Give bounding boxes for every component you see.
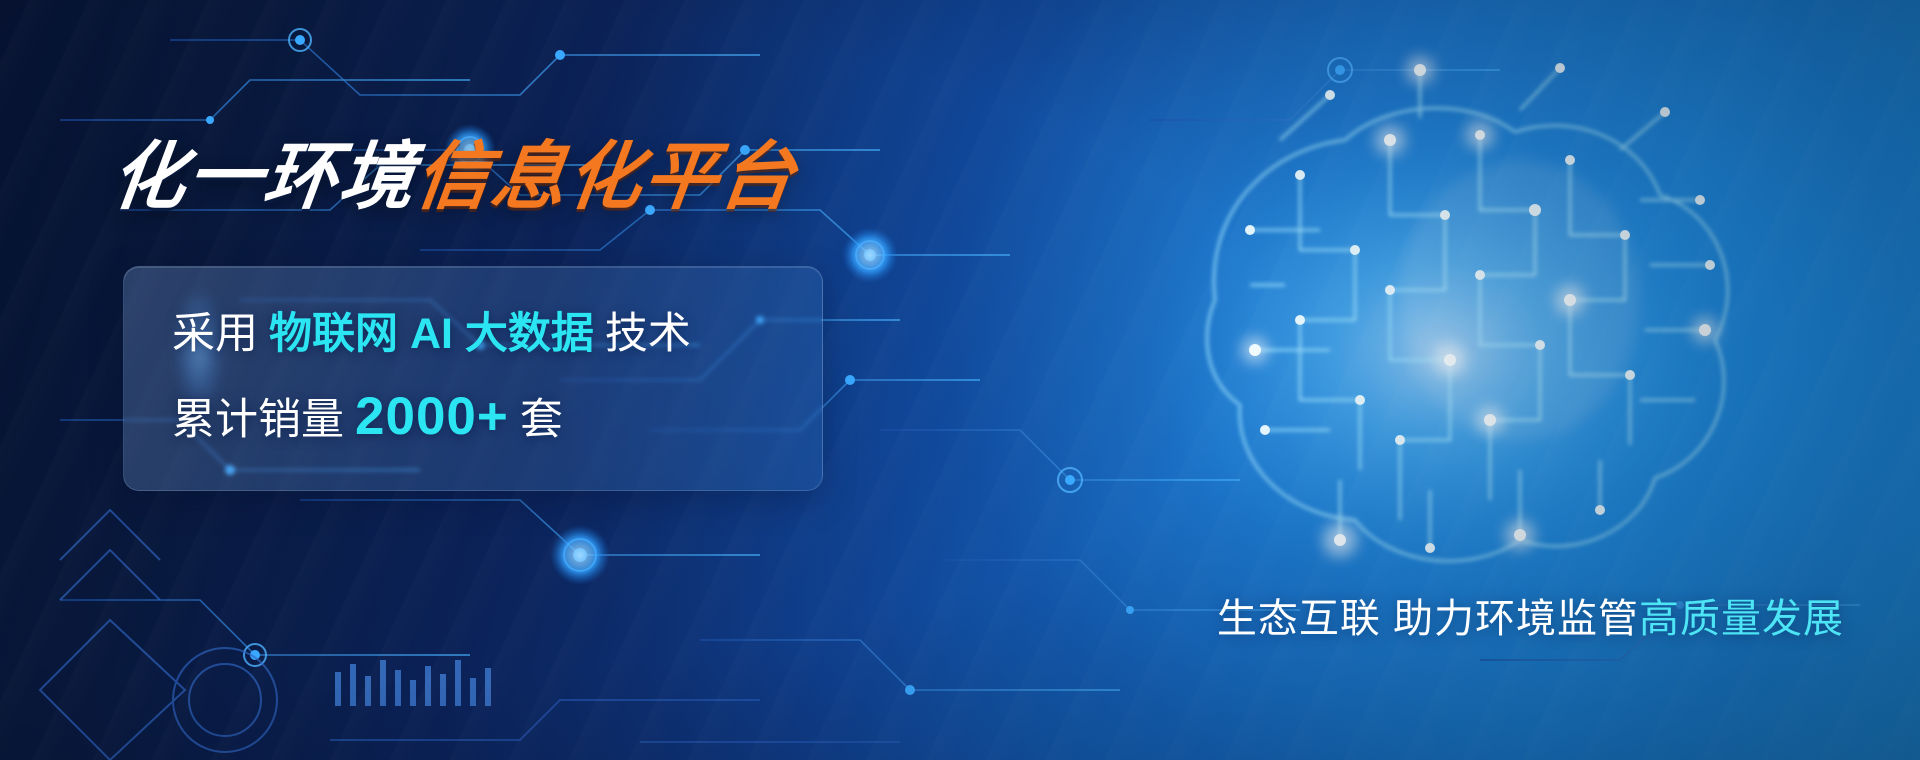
tech-highlight: 物联网 AI 大数据 — [269, 310, 594, 358]
sales-prefix: 累计销量 — [172, 396, 344, 444]
title-orange-part: 信息化平台 — [411, 135, 801, 218]
feature-line-sales: 累计销量2000+套 — [172, 389, 822, 445]
tech-prefix: 采用 — [172, 310, 258, 358]
sales-suffix: 套 — [520, 396, 563, 444]
feature-line-technology: 采用物联网 AI 大数据技术 — [172, 312, 822, 357]
tagline-white-part: 生态互联 助力环境监管 — [1217, 597, 1639, 641]
feature-card: 采用物联网 AI 大数据技术 累计销量2000+套 — [123, 266, 823, 491]
banner-tagline: 生态互联 助力环境监管高质量发展 — [1217, 586, 1844, 644]
tagline-cyan-part: 高质量发展 — [1639, 597, 1844, 641]
corner-ornament — [40, 510, 277, 760]
circuit-brain-icon — [1140, 56, 1740, 600]
title-white-part: 化一环境 — [107, 135, 421, 218]
tech-suffix: 技术 — [605, 310, 691, 358]
banner-title: 化一环境信息化平台 — [107, 140, 800, 214]
hero-banner: 化一环境信息化平台 采用物联网 AI 大数据技术 累计销量2000+套 生态互联… — [0, 0, 1920, 760]
sales-count: 2000+ — [355, 387, 509, 446]
